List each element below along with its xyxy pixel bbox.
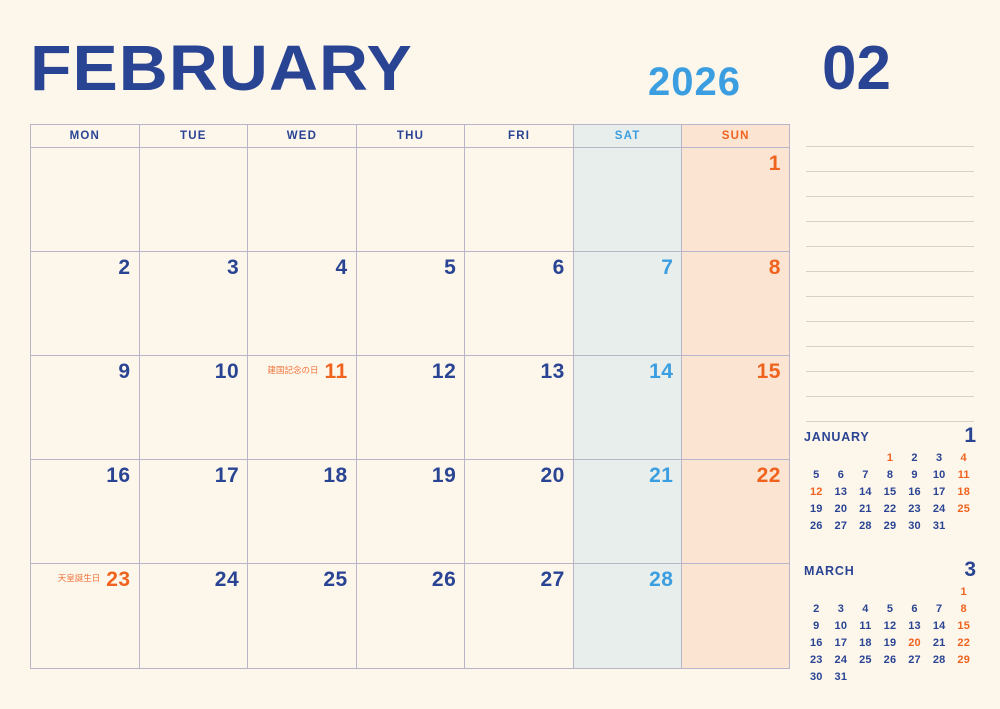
day-cell-26[interactable]: 26 xyxy=(356,564,465,668)
mini-day-20[interactable]: 20 xyxy=(902,636,927,650)
day-number: 5 xyxy=(444,257,456,278)
mini-day-1[interactable]: 1 xyxy=(878,451,903,465)
day-cell-6[interactable]: 6 xyxy=(464,252,573,355)
mini-day-25[interactable]: 25 xyxy=(951,502,976,516)
day-number: 28 xyxy=(649,569,673,590)
day-number: 4 xyxy=(336,257,348,278)
mini-day-blank xyxy=(951,670,976,684)
mini-day-blank xyxy=(804,585,829,599)
mini-day-26[interactable]: 26 xyxy=(878,653,903,667)
day-number: 14 xyxy=(649,361,673,382)
mini-day-6[interactable]: 6 xyxy=(902,602,927,616)
mini-day-blank xyxy=(853,451,878,465)
day-cell-2[interactable]: 2 xyxy=(30,252,139,355)
day-cell-22[interactable]: 22 xyxy=(681,460,790,563)
mini-day-blank xyxy=(902,585,927,599)
mini-day-15[interactable]: 15 xyxy=(878,485,903,499)
mini-day-31[interactable]: 31 xyxy=(829,670,854,684)
mini-day-24[interactable]: 24 xyxy=(829,653,854,667)
weekday-header-mon: MON xyxy=(30,125,139,147)
page-title: FEBRUARY xyxy=(30,36,413,100)
mini-day-blank xyxy=(927,670,952,684)
mini-day-14[interactable]: 14 xyxy=(853,485,878,499)
day-number: 2 xyxy=(118,257,130,278)
day-cell-5[interactable]: 5 xyxy=(356,252,465,355)
day-cell-15[interactable]: 15 xyxy=(681,356,790,459)
day-cell-10[interactable]: 10 xyxy=(139,356,248,459)
week-row: 910建国記念の日1112131415 xyxy=(30,356,790,460)
calendar-page: FEBRUARY 2026 02 MONTUEWEDTHUFRISATSUN 1… xyxy=(0,0,1000,709)
day-cell-empty xyxy=(139,148,248,251)
day-number: 12 xyxy=(432,361,456,382)
mini-day-18[interactable]: 18 xyxy=(951,485,976,499)
mini-day-11[interactable]: 11 xyxy=(853,619,878,633)
day-number: 20 xyxy=(540,465,564,486)
mini-day-blank xyxy=(951,519,976,533)
note-line[interactable] xyxy=(806,272,974,297)
mini-day-16[interactable]: 16 xyxy=(902,485,927,499)
weekday-header-fri: FRI xyxy=(464,125,573,147)
mini-day-28[interactable]: 28 xyxy=(853,519,878,533)
day-cell-18[interactable]: 18 xyxy=(247,460,356,563)
day-cell-1[interactable]: 1 xyxy=(681,148,790,251)
day-cell-24[interactable]: 24 xyxy=(139,564,248,668)
weekday-header-wed: WED xyxy=(247,125,356,147)
mini-day-12[interactable]: 12 xyxy=(804,485,829,499)
day-number: 19 xyxy=(432,465,456,486)
mini-day-7[interactable]: 7 xyxy=(853,468,878,482)
day-cell-11[interactable]: 建国記念の日11 xyxy=(247,356,356,459)
day-cell-27[interactable]: 27 xyxy=(464,564,573,668)
day-cell-4[interactable]: 4 xyxy=(247,252,356,355)
mini-day-13[interactable]: 13 xyxy=(829,485,854,499)
mini-day-blank xyxy=(829,451,854,465)
weekday-header-thu: THU xyxy=(356,125,465,147)
mini-day-9[interactable]: 9 xyxy=(804,619,829,633)
day-number: 22 xyxy=(757,465,781,486)
mini-calendar-month-name: JANUARY xyxy=(804,430,870,444)
day-cell-8[interactable]: 8 xyxy=(681,252,790,355)
mini-day-12[interactable]: 12 xyxy=(878,619,903,633)
day-number: 7 xyxy=(661,257,673,278)
mini-day-blank xyxy=(878,670,903,684)
day-number: 8 xyxy=(769,257,781,278)
mini-day-16[interactable]: 16 xyxy=(804,636,829,650)
mini-day-23[interactable]: 23 xyxy=(804,653,829,667)
day-number: 17 xyxy=(215,465,239,486)
note-line[interactable] xyxy=(806,222,974,247)
day-number: 1 xyxy=(769,153,781,174)
mini-day-14[interactable]: 14 xyxy=(927,619,952,633)
mini-day-4[interactable]: 4 xyxy=(951,451,976,465)
week-row: 天皇誕生日232425262728 xyxy=(30,564,790,668)
mini-day-10[interactable]: 10 xyxy=(829,619,854,633)
mini-day-2[interactable]: 2 xyxy=(902,451,927,465)
mini-day-22[interactable]: 22 xyxy=(878,502,903,516)
note-line[interactable] xyxy=(806,122,974,147)
mini-day-17[interactable]: 17 xyxy=(927,485,952,499)
day-cell-23[interactable]: 天皇誕生日23 xyxy=(30,564,139,668)
day-number: 6 xyxy=(553,257,565,278)
mini-day-3[interactable]: 3 xyxy=(829,602,854,616)
mini-day-5[interactable]: 5 xyxy=(804,468,829,482)
mini-day-20[interactable]: 20 xyxy=(829,502,854,516)
mini-day-18[interactable]: 18 xyxy=(853,636,878,650)
calendar-header: FEBRUARY 2026 02 xyxy=(0,0,1000,118)
mini-day-blank xyxy=(804,451,829,465)
day-cell-13[interactable]: 13 xyxy=(464,356,573,459)
mini-day-8[interactable]: 8 xyxy=(951,602,976,616)
mini-calendar-grid: 1234567891011121314151617181920212223242… xyxy=(804,585,976,684)
note-line[interactable] xyxy=(806,322,974,347)
week-row: 2345678 xyxy=(30,252,790,356)
day-number: 13 xyxy=(540,361,564,382)
mini-day-23[interactable]: 23 xyxy=(902,502,927,516)
day-cell-17[interactable]: 17 xyxy=(139,460,248,563)
note-line[interactable] xyxy=(806,147,974,172)
mini-day-27[interactable]: 27 xyxy=(902,653,927,667)
mini-day-26[interactable]: 26 xyxy=(804,519,829,533)
day-number: 21 xyxy=(649,465,673,486)
day-cell-empty xyxy=(247,148,356,251)
mini-calendar-january: JANUARY1 1234567891011121314151617181920… xyxy=(804,428,976,533)
mini-day-22[interactable]: 22 xyxy=(951,636,976,650)
day-number: 23 xyxy=(106,569,130,590)
mini-day-21[interactable]: 21 xyxy=(853,502,878,516)
mini-day-3[interactable]: 3 xyxy=(927,451,952,465)
day-cell-21[interactable]: 21 xyxy=(573,460,682,563)
day-number: 27 xyxy=(540,569,564,590)
mini-calendar-month-name: MARCH xyxy=(804,564,855,578)
mini-calendar-header: MARCH3 xyxy=(804,562,976,582)
mini-day-30[interactable]: 30 xyxy=(902,519,927,533)
day-number: 9 xyxy=(118,361,130,382)
mini-day-24[interactable]: 24 xyxy=(927,502,952,516)
mini-day-30[interactable]: 30 xyxy=(804,670,829,684)
mini-day-10[interactable]: 10 xyxy=(927,468,952,482)
week-rows: 12345678910建国記念の日11121314151617181920212… xyxy=(30,148,790,669)
mini-day-19[interactable]: 19 xyxy=(878,636,903,650)
day-number: 11 xyxy=(325,361,348,382)
mini-calendar-month-number: 3 xyxy=(964,559,976,580)
weekday-header-row: MONTUEWEDTHUFRISATSUN xyxy=(30,124,790,148)
mini-day-6[interactable]: 6 xyxy=(829,468,854,482)
day-number: 18 xyxy=(323,465,347,486)
note-line[interactable] xyxy=(806,247,974,272)
weekday-header-sat: SAT xyxy=(573,125,682,147)
mini-day-blank xyxy=(853,585,878,599)
mini-day-19[interactable]: 19 xyxy=(804,502,829,516)
mini-calendar-header: JANUARY1 xyxy=(804,428,976,448)
month-grid: MONTUEWEDTHUFRISATSUN 12345678910建国記念の日1… xyxy=(30,124,790,668)
day-cell-empty xyxy=(464,148,573,251)
day-cell-20[interactable]: 20 xyxy=(464,460,573,563)
week-row: 1 xyxy=(30,148,790,252)
day-cell-3[interactable]: 3 xyxy=(139,252,248,355)
mini-day-17[interactable]: 17 xyxy=(829,636,854,650)
day-cell-empty xyxy=(681,564,790,668)
note-line[interactable] xyxy=(806,372,974,397)
mini-day-5[interactable]: 5 xyxy=(878,602,903,616)
mini-calendar-grid: 1234567891011121314151617181920212223242… xyxy=(804,451,976,533)
mini-day-27[interactable]: 27 xyxy=(829,519,854,533)
note-line[interactable] xyxy=(806,172,974,197)
day-cell-25[interactable]: 25 xyxy=(247,564,356,668)
note-line[interactable] xyxy=(806,297,974,322)
mini-day-9[interactable]: 9 xyxy=(902,468,927,482)
mini-day-21[interactable]: 21 xyxy=(927,636,952,650)
day-number: 24 xyxy=(215,569,239,590)
mini-day-2[interactable]: 2 xyxy=(804,602,829,616)
day-cell-19[interactable]: 19 xyxy=(356,460,465,563)
note-line[interactable] xyxy=(806,347,974,372)
day-cell-9[interactable]: 9 xyxy=(30,356,139,459)
day-number: 15 xyxy=(757,361,781,382)
mini-day-8[interactable]: 8 xyxy=(878,468,903,482)
weekday-header-sun: SUN xyxy=(681,125,790,147)
day-number: 16 xyxy=(106,465,130,486)
mini-day-29[interactable]: 29 xyxy=(878,519,903,533)
day-number: 10 xyxy=(215,361,239,382)
year-label: 2026 xyxy=(648,62,741,102)
mini-day-29[interactable]: 29 xyxy=(951,653,976,667)
mini-day-15[interactable]: 15 xyxy=(951,619,976,633)
mini-day-25[interactable]: 25 xyxy=(853,653,878,667)
weekday-header-tue: TUE xyxy=(139,125,248,147)
holiday-label: 天皇誕生日 xyxy=(58,574,101,584)
mini-day-4[interactable]: 4 xyxy=(853,602,878,616)
mini-day-blank xyxy=(927,585,952,599)
mini-calendar-month-number: 1 xyxy=(964,425,976,446)
day-cell-empty xyxy=(356,148,465,251)
mini-day-blank xyxy=(902,670,927,684)
mini-calendar-march: MARCH3 123456789101112131415161718192021… xyxy=(804,562,976,684)
day-cell-14[interactable]: 14 xyxy=(573,356,682,459)
day-number: 3 xyxy=(227,257,239,278)
mini-day-11[interactable]: 11 xyxy=(951,468,976,482)
day-cell-28[interactable]: 28 xyxy=(573,564,682,668)
mini-day-blank xyxy=(829,585,854,599)
week-row: 16171819202122 xyxy=(30,460,790,564)
day-cell-7[interactable]: 7 xyxy=(573,252,682,355)
day-number: 25 xyxy=(323,569,347,590)
mini-day-blank xyxy=(878,585,903,599)
day-cell-empty xyxy=(573,148,682,251)
day-number: 26 xyxy=(432,569,456,590)
mini-day-1[interactable]: 1 xyxy=(951,585,976,599)
day-cell-empty xyxy=(30,148,139,251)
note-line[interactable] xyxy=(806,197,974,222)
mini-day-28[interactable]: 28 xyxy=(927,653,952,667)
note-line[interactable] xyxy=(806,397,974,422)
mini-day-31[interactable]: 31 xyxy=(927,519,952,533)
day-cell-16[interactable]: 16 xyxy=(30,460,139,563)
notes-area[interactable] xyxy=(806,122,974,422)
mini-day-13[interactable]: 13 xyxy=(902,619,927,633)
month-number-label: 02 xyxy=(822,38,891,100)
day-cell-12[interactable]: 12 xyxy=(356,356,465,459)
holiday-label: 建国記念の日 xyxy=(267,366,318,376)
mini-day-blank xyxy=(853,670,878,684)
mini-day-7[interactable]: 7 xyxy=(927,602,952,616)
